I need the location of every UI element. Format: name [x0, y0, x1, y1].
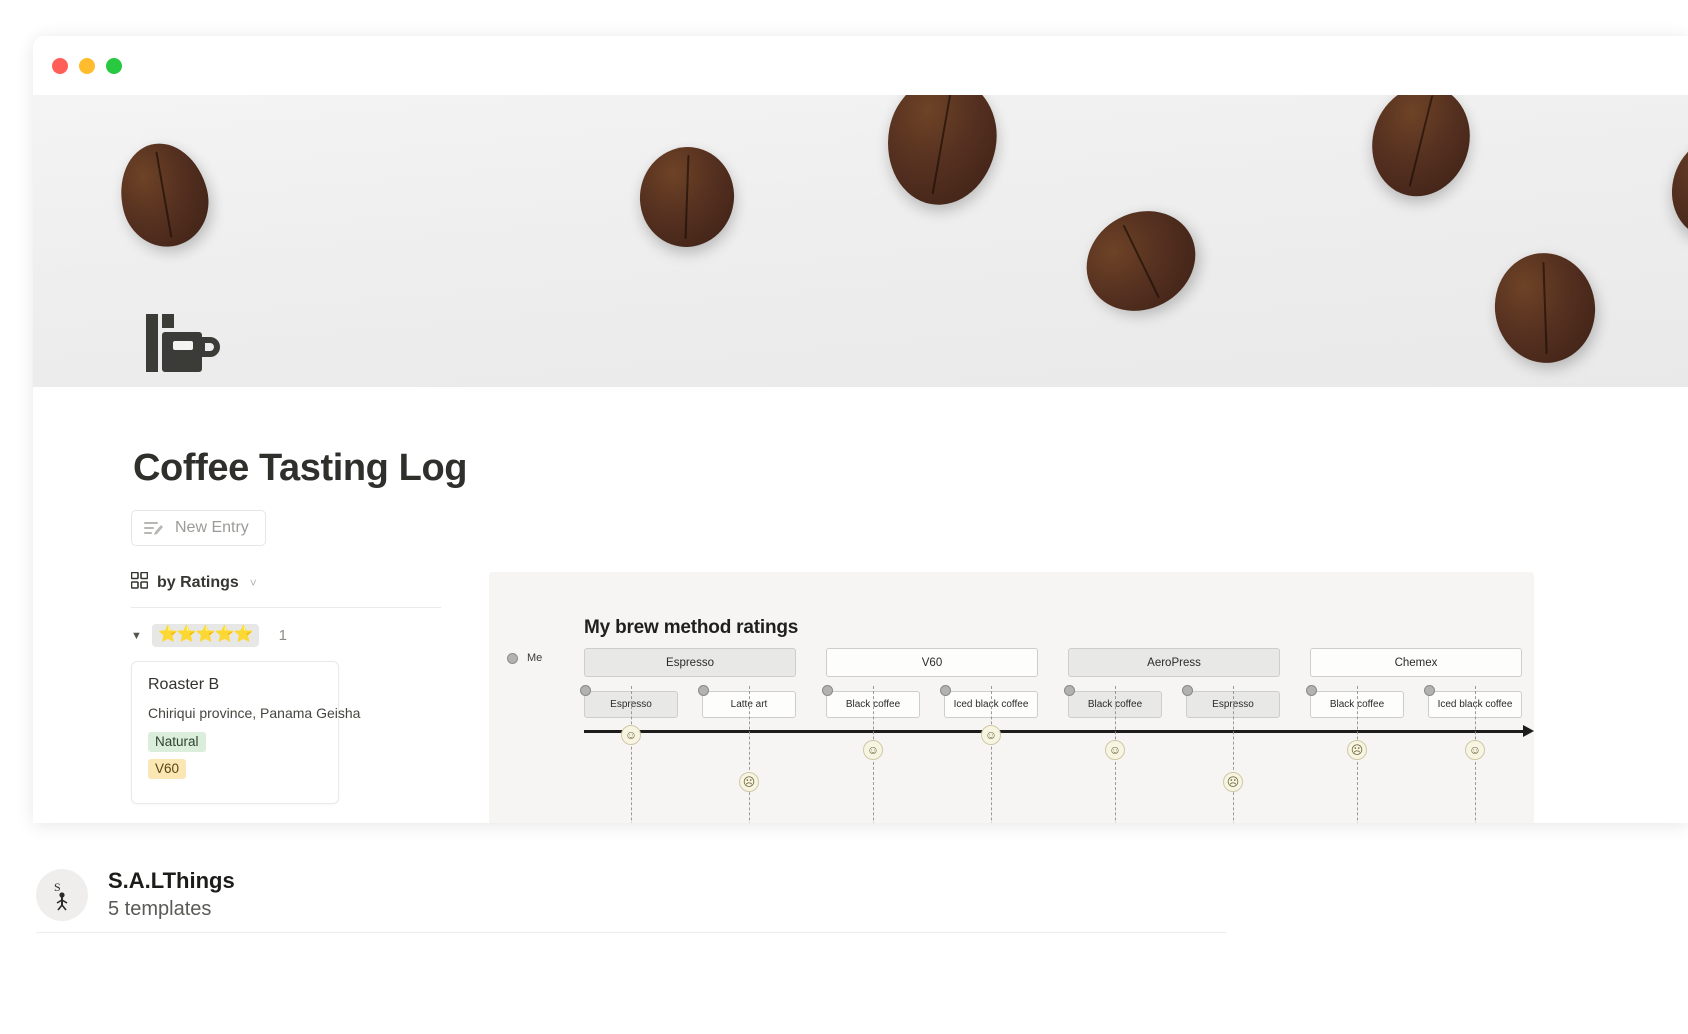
- author-block: S.A.LThings 5 templates: [108, 868, 235, 921]
- chevron-down-icon[interactable]: ˅: [250, 576, 257, 590]
- connector-dot-icon: [698, 685, 709, 696]
- group-caret-icon[interactable]: ▼: [131, 630, 142, 642]
- rating-group-5-star[interactable]: ▼ ⭐⭐⭐⭐⭐ 1: [131, 624, 441, 647]
- rating-emoji-slight_smile[interactable]: ☺: [863, 740, 883, 760]
- connector-dot-icon: [1064, 685, 1075, 696]
- marker-dropline: [631, 686, 632, 823]
- timeline-axis: [584, 730, 1534, 733]
- method-children: Black coffee Iced black coffee: [1310, 691, 1522, 718]
- group-by-label: by Ratings: [157, 574, 239, 592]
- tag-row: Natural: [148, 732, 322, 752]
- window-titlebar: [33, 36, 1688, 95]
- status-badge: ⭐⭐⭐⭐⭐: [152, 624, 259, 647]
- coffee-bean: [1358, 95, 1484, 209]
- connector-dot-icon: [822, 685, 833, 696]
- minimize-button[interactable]: [79, 58, 95, 74]
- rating-emoji-frowning[interactable]: ☹: [739, 772, 759, 792]
- rating-emoji-slight_smile[interactable]: ☺: [1105, 740, 1125, 760]
- ratings-sidebar: by Ratings ˅ ▼ ⭐⭐⭐⭐⭐ 1 Roaster B Chiriqu…: [131, 572, 441, 823]
- method-children: Black coffee Espresso: [1068, 691, 1280, 718]
- coffee-bean: [878, 95, 1007, 213]
- coffee-bean: [110, 134, 219, 256]
- method-box[interactable]: Espresso: [584, 648, 796, 677]
- group-by-control[interactable]: by Ratings ˅: [131, 572, 441, 608]
- page-title: Coffee Tasting Log: [133, 447, 1688, 490]
- tag-row: V60: [148, 759, 322, 779]
- method-children: Black coffee Iced black coffee: [826, 691, 1038, 718]
- method-v60: V60 Black coffee Iced black coffee: [826, 648, 1038, 718]
- tag-method: V60: [148, 759, 186, 779]
- template-count: 5 templates: [108, 898, 235, 921]
- new-entry-button[interactable]: New Entry: [131, 510, 266, 546]
- connector-dot-icon: [940, 685, 951, 696]
- method-box[interactable]: Chemex: [1310, 648, 1522, 677]
- group-count: 1: [279, 627, 287, 644]
- connector-dot-icon: [1424, 685, 1435, 696]
- footer-divider: [36, 932, 1226, 933]
- chart-legend: Me: [507, 652, 542, 664]
- marker-dropline: [1233, 686, 1234, 823]
- new-entry-label: New Entry: [175, 519, 249, 537]
- rating-emoji-slight_smile[interactable]: ☺: [981, 725, 1001, 745]
- author-name: S.A.LThings: [108, 868, 235, 894]
- tag-process: Natural: [148, 732, 206, 752]
- axis-arrow-icon: [1523, 725, 1534, 737]
- legend-label: Me: [527, 652, 542, 664]
- svg-text:S: S: [54, 880, 61, 894]
- marker-dropline: [749, 686, 750, 823]
- traffic-lights: [52, 58, 122, 74]
- method-box[interactable]: AeroPress: [1068, 648, 1280, 677]
- grid-icon: [131, 572, 148, 594]
- method-children: Espresso Latte art: [584, 691, 796, 718]
- method-aeropress: AeroPress Black coffee Espresso: [1068, 648, 1280, 718]
- rating-emoji-neutral[interactable]: ☹: [1347, 740, 1367, 760]
- coffee-bean: [1069, 192, 1213, 329]
- method-chemex: Chemex Black coffee Iced black coffee: [1310, 648, 1522, 718]
- card-subtitle: Chiriqui province, Panama Geisha: [148, 705, 322, 721]
- page-root: Coffee Tasting Log New Entry: [0, 0, 1688, 1034]
- maximize-button[interactable]: [106, 58, 122, 74]
- coffee-bean: [633, 141, 740, 253]
- rating-emoji-slight_smile[interactable]: ☺: [621, 725, 641, 745]
- coffee-cup-icon[interactable]: [144, 308, 220, 378]
- list-item[interactable]: Roaster B Chiriqui province, Panama Geis…: [131, 661, 339, 804]
- connector-dot-icon: [1182, 685, 1193, 696]
- card-title: Roaster B: [148, 676, 322, 694]
- method-espresso: Espresso Espresso Latte art: [584, 648, 796, 718]
- connector-dot-icon: [580, 685, 591, 696]
- brew-method-diagram: My brew method ratings Me Espresso: [489, 572, 1534, 823]
- new-entry-icon: [144, 520, 164, 536]
- rating-emoji-slight_smile[interactable]: ☺: [1465, 740, 1485, 760]
- marker-dropline: [991, 686, 992, 823]
- rating-emoji-frowning[interactable]: ☹: [1223, 772, 1243, 792]
- close-button[interactable]: [52, 58, 68, 74]
- chart-title: My brew method ratings: [584, 617, 798, 639]
- coffee-bean: [1488, 247, 1602, 370]
- method-box[interactable]: V60: [826, 648, 1038, 677]
- content-columns: by Ratings ˅ ▼ ⭐⭐⭐⭐⭐ 1 Roaster B Chiriqu…: [33, 572, 1688, 823]
- cover-image: [33, 95, 1688, 387]
- document-body: Coffee Tasting Log New Entry: [33, 387, 1688, 823]
- app-window: Coffee Tasting Log New Entry: [33, 36, 1688, 823]
- legend-dot-icon: [507, 653, 518, 664]
- salthings-avatar: S: [36, 869, 88, 921]
- axis-line: [584, 730, 1525, 733]
- connector-dot-icon: [1306, 685, 1317, 696]
- coffee-bean: [1657, 122, 1688, 252]
- template-author[interactable]: S S.A.LThings 5 templates: [36, 868, 235, 921]
- method-columns: Espresso Espresso Latte art: [584, 648, 1522, 718]
